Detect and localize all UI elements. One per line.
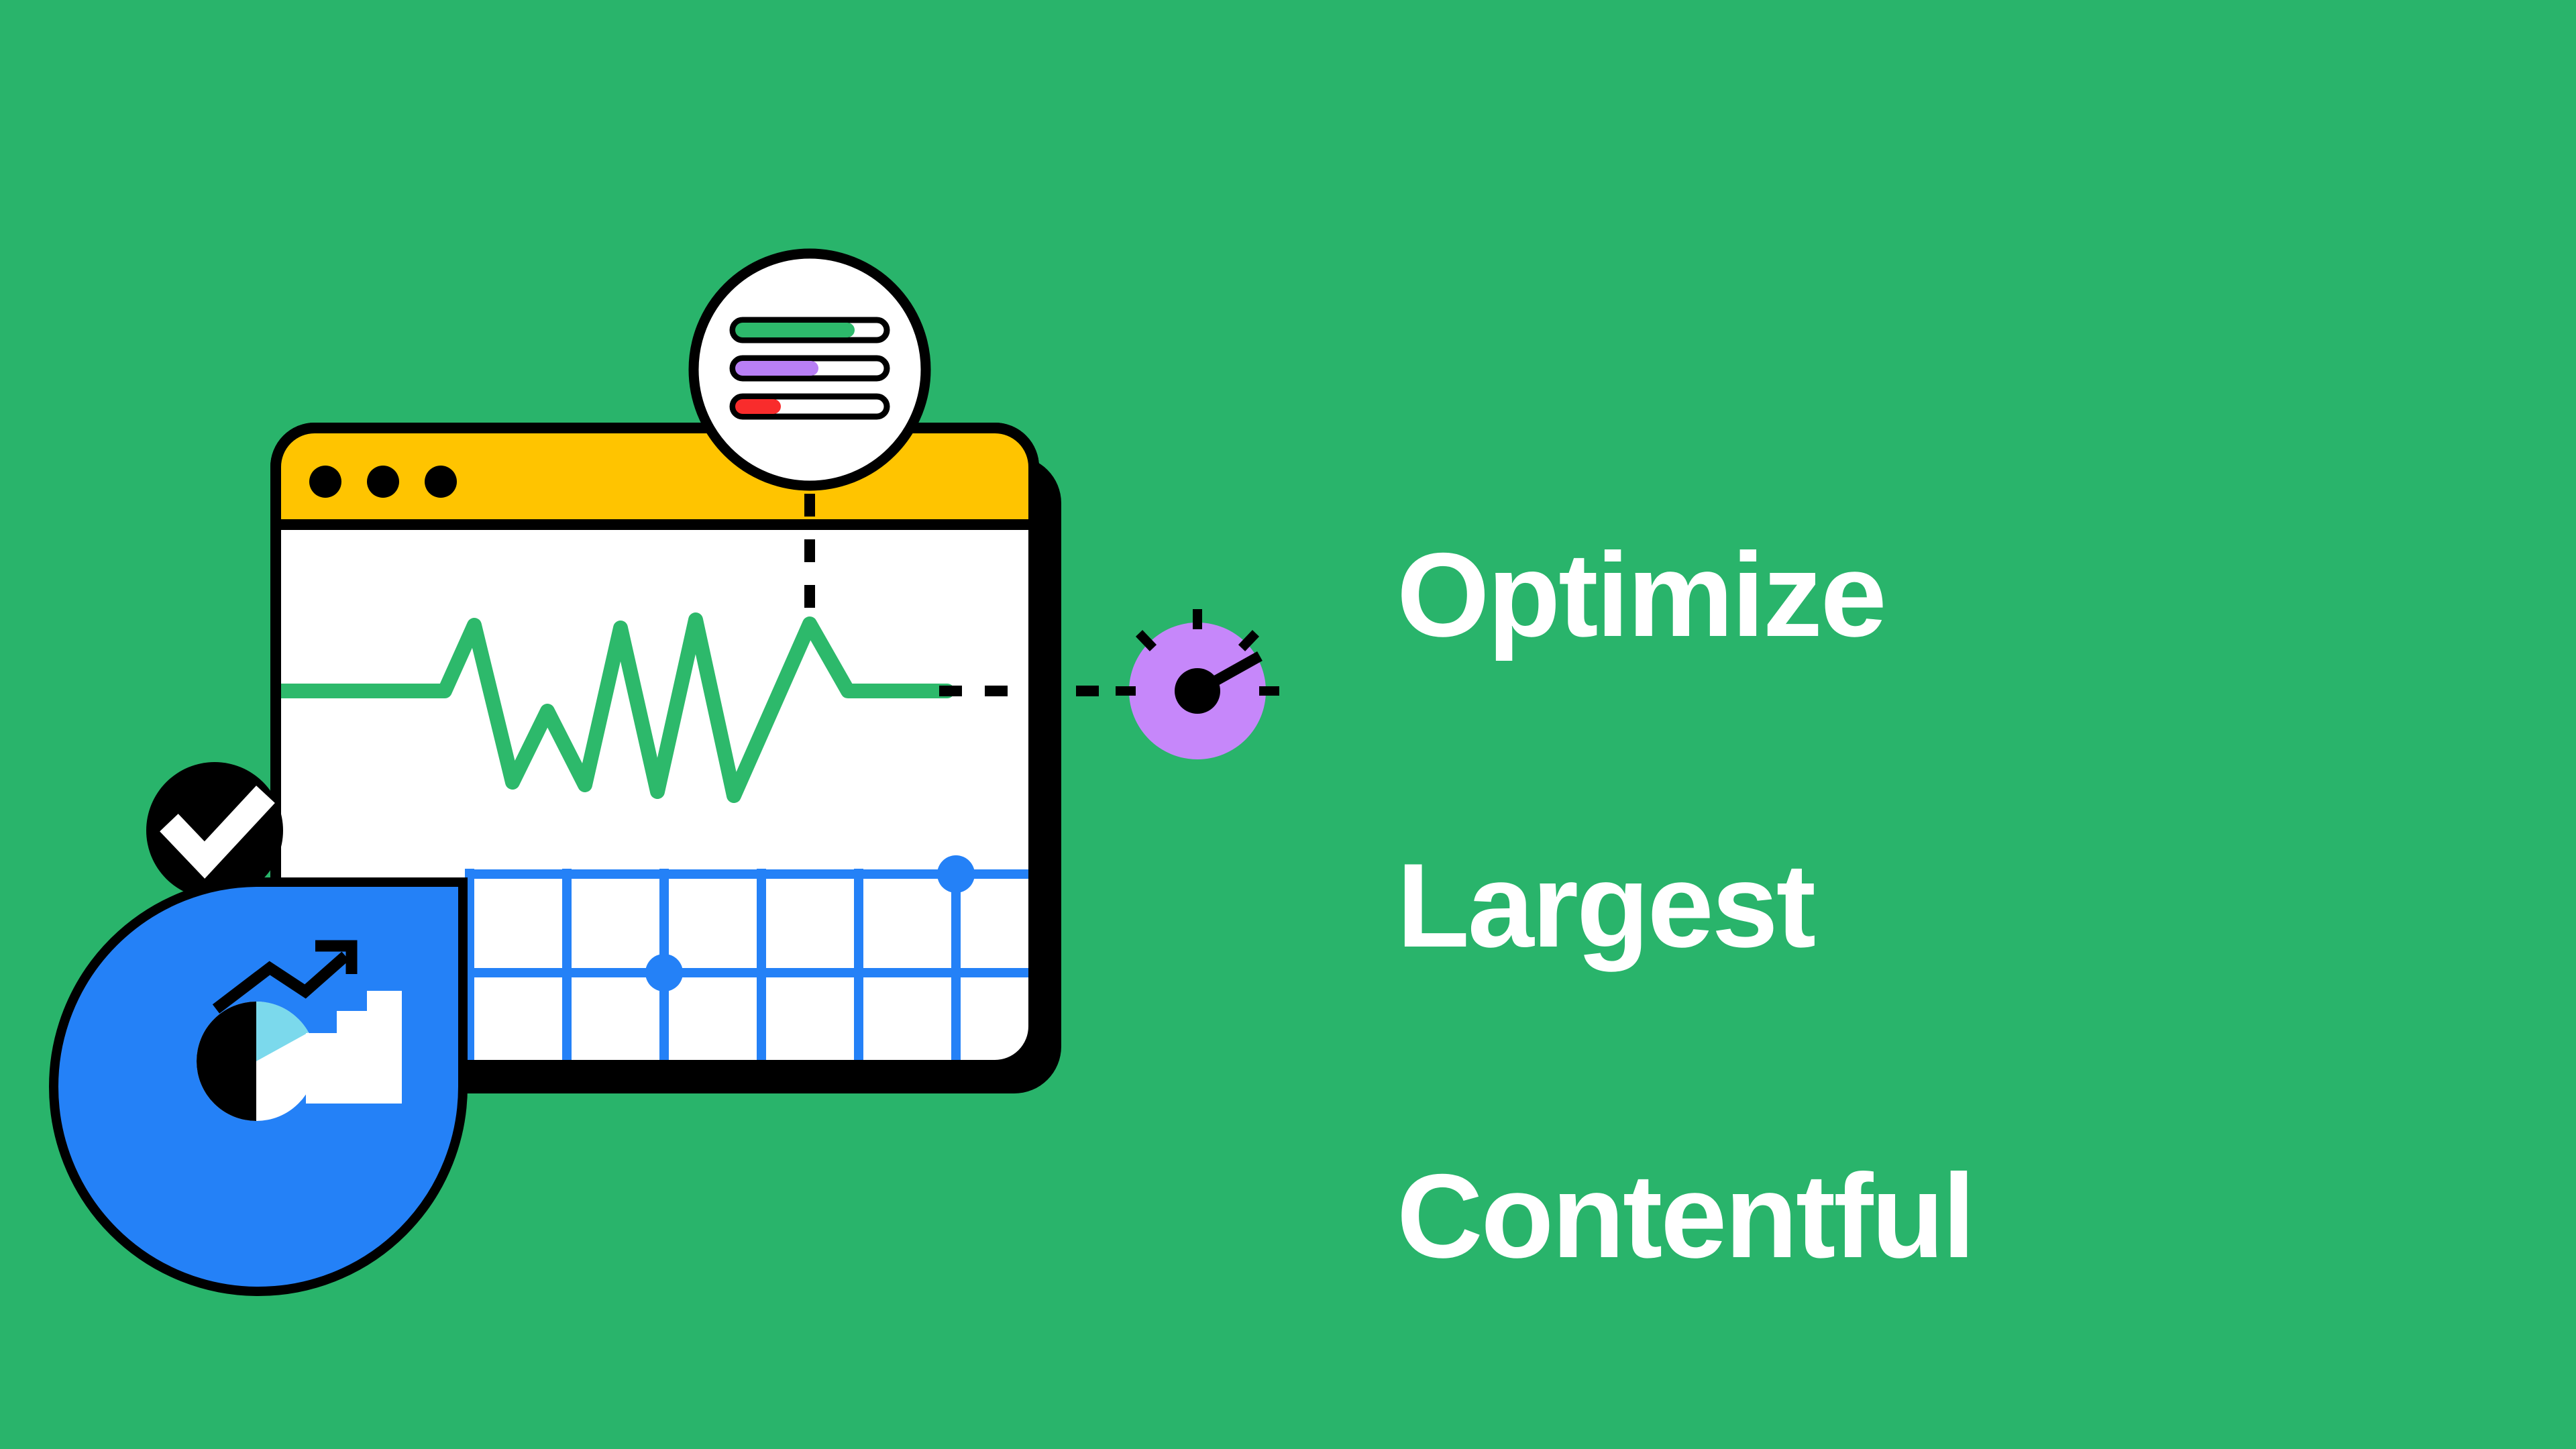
- droplet-pie-chart: [197, 1002, 316, 1121]
- droplet-bar-3: [367, 991, 402, 1104]
- gauge-tick-upper-right: [1242, 633, 1256, 648]
- good-metric-bar: [733, 320, 887, 340]
- analytics-droplet[interactable]: [54, 882, 463, 1291]
- metric-badge[interactable]: [694, 254, 926, 486]
- headline-line-3: Contentful: [1397, 1138, 2336, 1293]
- traffic-light-dot-close[interactable]: [309, 466, 341, 498]
- headline-line-2: Largest: [1397, 828, 2336, 983]
- poor-metric-bar: [733, 396, 887, 417]
- traffic-light-dot-maximize[interactable]: [425, 466, 457, 498]
- grid-point-1[interactable]: [645, 954, 683, 991]
- performance-gauge[interactable]: [1116, 609, 1279, 759]
- droplet-bar-2: [337, 1011, 372, 1104]
- droplet-bar-1: [306, 1033, 341, 1104]
- page-title: Optimize Largest Contentful Paint: [1397, 362, 2336, 1449]
- gauge-tick-upper-left: [1139, 633, 1153, 648]
- gauge-hub: [1175, 668, 1220, 714]
- needs-improvement-metric-bar: [733, 358, 887, 378]
- needs-improvement-metric-bar-fill: [735, 361, 818, 376]
- poster-canvas: Optimize Largest Contentful Paint: [0, 0, 2576, 1449]
- traffic-light-dot-minimize[interactable]: [367, 466, 399, 498]
- headline-line-1: Optimize: [1397, 517, 2336, 672]
- poor-metric-bar-fill: [735, 399, 781, 414]
- grid-point-2[interactable]: [937, 855, 975, 893]
- good-metric-bar-fill: [735, 323, 855, 337]
